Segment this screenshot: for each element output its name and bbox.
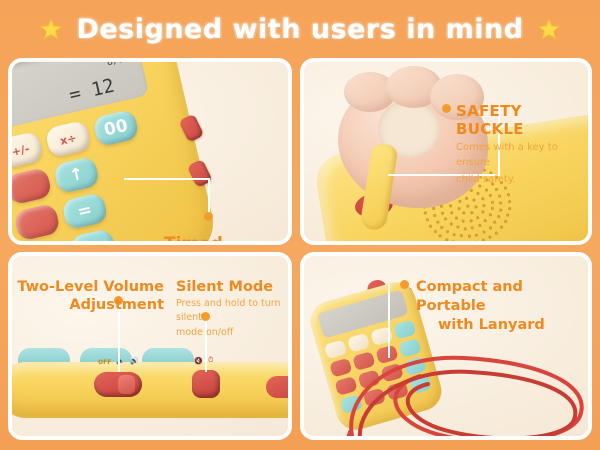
feature-text-silent-mode: Silent Mode Press and hold to turn silen…: [176, 278, 292, 340]
feature-title-line2: Adjustment: [16, 296, 164, 314]
feature-subtitle-line1: Comes with a key to ensure: [456, 140, 588, 170]
key-blank[interactable]: [22, 239, 70, 245]
lcd-result: = 12: [67, 75, 117, 107]
switch-off-label: OFF: [98, 359, 111, 366]
feature-subtitle-line2: child safety.: [456, 172, 588, 187]
speaker-dot: [482, 239, 485, 242]
speaker-dot: [445, 238, 448, 241]
feature-title: Silent Mode: [176, 278, 292, 296]
feature-text-volume: Two-Level Volume Adjustment: [16, 278, 164, 314]
panel-safety-buckle: SAFETY BUCKLE Comes with a key to ensure…: [300, 58, 592, 245]
page-title: Designed with users in mind: [76, 14, 523, 45]
lcd-equals: =: [67, 82, 83, 106]
speaker-dot: [504, 220, 507, 223]
key-blank[interactable]: [69, 228, 117, 245]
speaker-dot: [478, 224, 481, 227]
speaker-dot: [441, 211, 444, 214]
device-side-profile: [8, 362, 292, 418]
key-blank[interactable]: [13, 203, 61, 242]
speaker-dot: [439, 234, 442, 237]
speaker-dot: [484, 219, 487, 222]
key-plus-minus[interactable]: +/-: [8, 131, 44, 170]
speaker-dot: [471, 226, 474, 229]
device-red-tab: [588, 231, 592, 245]
feature-title: SAFETY BUCKLE: [456, 102, 588, 138]
speaker-dot: [449, 222, 452, 225]
speaker-dot: [499, 208, 502, 211]
callout-dot: [400, 280, 409, 289]
callout-dot: [442, 104, 451, 113]
clock-icon: ⏱: [208, 357, 213, 365]
speaker-dot: [462, 219, 465, 222]
feature-text-safety-buckle: SAFETY BUCKLE Comes with a key to ensure…: [456, 102, 588, 187]
speaker-dot: [494, 231, 497, 234]
speaker-dot: [507, 193, 510, 196]
callout-line-vertical: [208, 178, 210, 214]
callout-line-horizontal: [124, 178, 210, 180]
speaker-dot: [474, 241, 477, 244]
volume-switch[interactable]: [94, 372, 142, 397]
speaker-dot: [446, 230, 449, 233]
device-red-rod: [266, 376, 292, 398]
feature-title: Timed Challenge: [164, 234, 288, 245]
speaker-dot: [481, 197, 484, 200]
speaker-dot: [491, 200, 494, 203]
speaker-dot: [466, 204, 469, 207]
speaker-dot: [497, 215, 500, 218]
key-blank[interactable]: [8, 167, 53, 206]
lcd-score: 8/50: [106, 58, 132, 68]
feature-title-line1: Two-Level Volume: [16, 278, 164, 296]
feature-title-line2: with Lanyard: [416, 316, 588, 335]
speaker-dot: [462, 211, 465, 214]
speaker-dot: [481, 210, 484, 213]
speaker-dot: [482, 230, 485, 233]
speaker-dot: [506, 213, 509, 216]
key-equals[interactable]: =: [61, 192, 109, 231]
speaker-dot: [468, 234, 471, 237]
speaker-dot: [432, 207, 435, 210]
speaker-dot: [449, 204, 452, 207]
speaker-dot: [459, 200, 462, 203]
speaker-dot: [475, 233, 478, 236]
speaker-dot: [455, 216, 458, 219]
speaker-dot: [498, 194, 501, 197]
speaker-dot: [453, 233, 456, 236]
feature-subtitle-line1: Press and hold to turn silent: [176, 297, 292, 325]
speaker-dot: [452, 241, 455, 244]
speaker-dot: [484, 188, 487, 191]
speaker-dot: [508, 207, 511, 210]
speaker-dot: [472, 199, 475, 202]
speaker-dot: [440, 225, 443, 228]
speaker-dot: [433, 230, 436, 233]
speaker-dot: [469, 219, 472, 222]
speaker-dot: [459, 242, 462, 245]
speaker-dot: [493, 221, 496, 224]
feature-text-timed-challenge: Timed Challenge Short press to set 5s/10…: [164, 234, 288, 245]
speaker-dot: [488, 213, 491, 216]
feature-title: Compact and Portable with Lanyard: [416, 278, 588, 335]
speaker-dot: [491, 207, 494, 210]
lcd-star-icons: [81, 58, 130, 59]
star-icon: [538, 18, 560, 40]
speaker-dot: [429, 224, 432, 227]
feature-text-compact-portable: Compact and Portable with Lanyard: [416, 278, 588, 335]
speaker-dot: [482, 204, 485, 207]
key-up-arrow[interactable]: ↑: [53, 156, 101, 195]
speaker-dot: [436, 220, 439, 223]
speaker-dot: [489, 194, 492, 197]
star-icon: [40, 18, 62, 40]
speaker-dot: [499, 201, 502, 204]
feature-title-line1: Compact and Portable: [416, 279, 523, 314]
speaker-dot: [476, 192, 479, 195]
speaker-dot: [457, 206, 460, 209]
speaker-dot: [495, 188, 498, 191]
speaker-dot: [476, 216, 479, 219]
lcd-result-value: 12: [89, 75, 116, 102]
speaker-dot: [469, 189, 472, 192]
silent-mode-button[interactable]: [192, 370, 220, 398]
speaker-dot: [450, 211, 453, 214]
infographic-root: Designed with users in mind 3+9 = 12 8/5…: [0, 0, 600, 450]
speaker-dot: [470, 211, 473, 214]
callout-dot: [204, 212, 213, 221]
speaker-dot: [460, 234, 463, 237]
speaker-dot: [426, 218, 429, 221]
speaker-dot: [488, 226, 491, 229]
speaker-dot: [488, 235, 491, 238]
speaker-dot: [456, 226, 459, 229]
header-banner: Designed with users in mind: [0, 0, 600, 58]
volume-switch-knob[interactable]: [118, 375, 135, 394]
lanyard-image: [334, 332, 592, 440]
panel-compact-portable: Compact and Portable with Lanyard: [300, 252, 592, 440]
key-6[interactable]: 6: [8, 214, 13, 245]
speaker-dot: [465, 196, 468, 199]
speaker-dot: [433, 214, 436, 217]
speaker-dot: [444, 217, 447, 220]
speaker-icon: 🔊: [130, 357, 139, 365]
callout-line-vertical: [388, 284, 390, 358]
panel-timed-challenge: 3+9 = 12 8/50 2 +/- x÷ 00 3 ↑: [8, 58, 292, 245]
feature-subtitle-line2: mode on/off: [176, 326, 292, 340]
speaker-dot: [474, 205, 477, 208]
mute-icon: 🔇: [194, 357, 203, 365]
speaker-dot: [508, 200, 511, 203]
speaker-dot: [467, 242, 470, 245]
panel-volume-silent: OFF 🔈 🔊 🔇 ⏱ Two-Level Volume Adjustment …: [8, 252, 292, 440]
speaker-dot: [424, 212, 427, 215]
speaker-dot: [463, 227, 466, 230]
speaker-dot: [500, 226, 503, 229]
